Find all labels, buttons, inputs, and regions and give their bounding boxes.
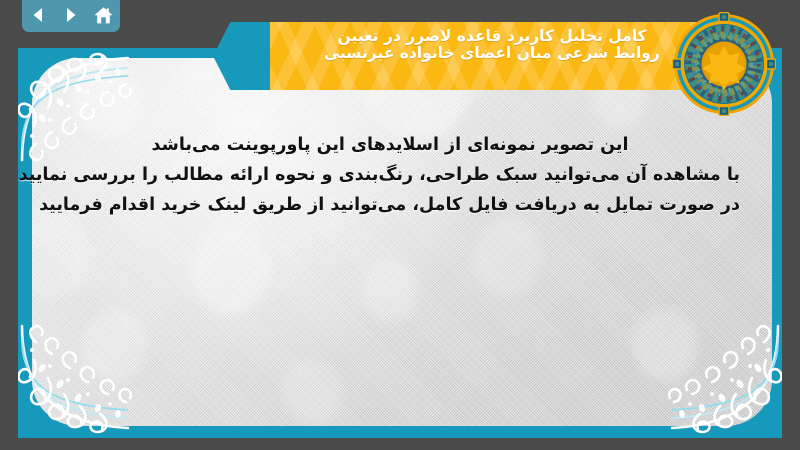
islamic-medallion-ornament <box>672 12 776 116</box>
bokeh-circle <box>282 358 342 424</box>
body-line-2: با مشاهده آن می‌توانید سبک طراحی، رنگ‌بن… <box>40 160 740 190</box>
slide-title: کامل تحلیل کاربرد قاعده لاضرر در تعیین ر… <box>270 22 730 61</box>
next-icon <box>61 5 81 25</box>
bokeh-circle <box>472 218 542 296</box>
bokeh-circle <box>32 208 92 298</box>
arabesque-corner-ornament-bottom-right <box>632 318 782 438</box>
body-line-1: این تصویر نمونه‌ای از اسلایدهای این پاور… <box>40 130 740 160</box>
title-line-1: کامل تحلیل کاربرد قاعده لاضرر در تعیین <box>280 28 704 45</box>
previous-icon <box>28 5 48 25</box>
title-line-2: روابط شرعی میان اعضای خانواده غیرنسبی <box>280 45 704 62</box>
arabesque-corner-ornament-bottom-left <box>18 318 168 438</box>
body-line-3: در صورت تمایل به دریافت فایل کامل، می‌تو… <box>40 190 740 220</box>
presentation-slide: این تصویر نمونه‌ای از اسلایدهای این پاور… <box>0 0 800 450</box>
slide-navigation-bar <box>22 0 120 32</box>
banner-body: کامل تحلیل کاربرد قاعده لاضرر در تعیین ر… <box>270 22 730 90</box>
home-icon <box>93 5 114 26</box>
home-button[interactable] <box>92 3 116 27</box>
bokeh-circle <box>362 258 418 322</box>
next-button[interactable] <box>59 3 83 27</box>
slide-body-text: این تصویر نمونه‌ای از اسلایدهای این پاور… <box>40 130 740 220</box>
bokeh-circle <box>192 228 270 314</box>
previous-button[interactable] <box>26 3 50 27</box>
